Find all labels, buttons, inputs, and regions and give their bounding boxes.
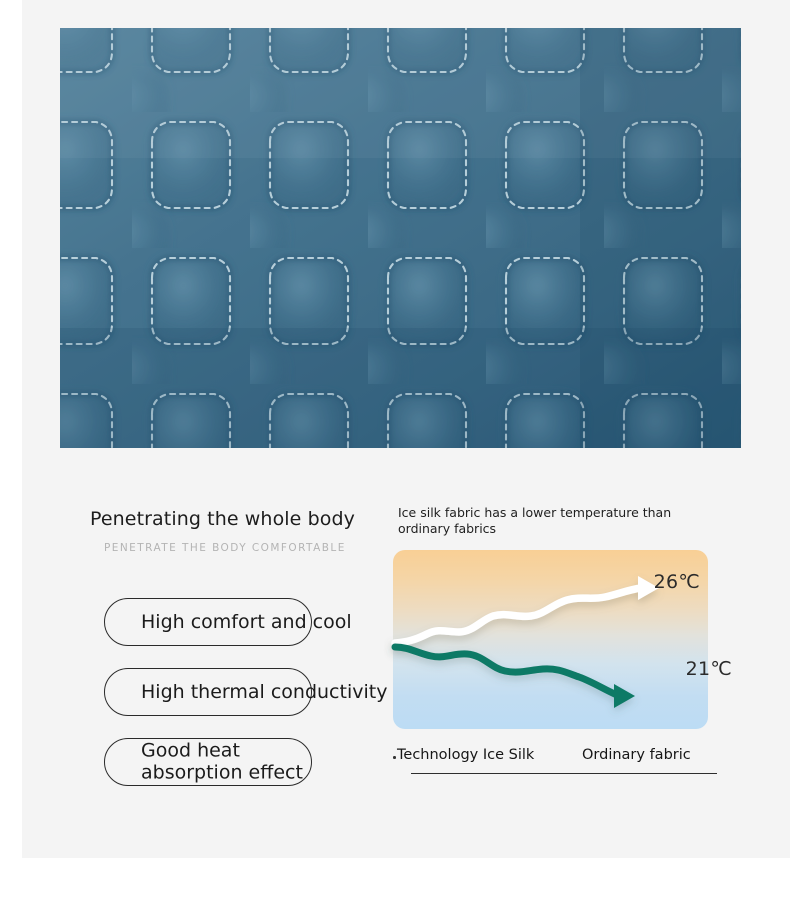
- chart-caption: Ice silk fabric has a lower temperature …: [398, 505, 710, 536]
- feature-pill-comfort[interactable]: High comfort and cool: [104, 598, 312, 646]
- chart-label-cold-temperature: 21℃: [686, 658, 732, 680]
- legend-item-ordinary-fabric: Ordinary fabric: [582, 747, 691, 763]
- legend-bullet-icon: [393, 756, 396, 759]
- chart-label-hot-temperature: 26℃: [654, 571, 700, 593]
- feature-pill-label: High thermal conductivity: [141, 681, 387, 703]
- fabric-texture-illustration: [60, 28, 741, 448]
- feature-pill-label: Good heat absorption effect: [141, 740, 303, 785]
- feature-pill-conductivity[interactable]: High thermal conductivity: [104, 668, 312, 716]
- feature-subtitle: PENETRATE THE BODY COMFORTABLE: [104, 542, 400, 554]
- legend-underline-rule: [411, 773, 717, 774]
- feature-heading-block: Penetrating the whole body PENETRATE THE…: [90, 508, 400, 554]
- chart-legend: Technology Ice Silk Ordinary fabric: [393, 747, 723, 773]
- content-panel: Penetrating the whole body PENETRATE THE…: [22, 0, 790, 858]
- quilted-ice-silk-fabric-photo: [60, 28, 741, 448]
- feature-pill-absorption[interactable]: Good heat absorption effect: [104, 738, 312, 786]
- temperature-comparison-chart: Ice silk fabric has a lower temperature …: [393, 505, 723, 773]
- series-ordinary-fabric: [395, 576, 659, 643]
- feature-title: Penetrating the whole body: [90, 508, 400, 530]
- series-technology-ice-silk: [395, 647, 635, 708]
- feature-pill-list: High comfort and cool High thermal condu…: [104, 598, 404, 808]
- legend-item-technology-ice-silk: Technology Ice Silk: [397, 747, 534, 763]
- chart-plot-area: 26℃ 21℃: [393, 550, 708, 729]
- feature-pill-label: High comfort and cool: [141, 611, 352, 633]
